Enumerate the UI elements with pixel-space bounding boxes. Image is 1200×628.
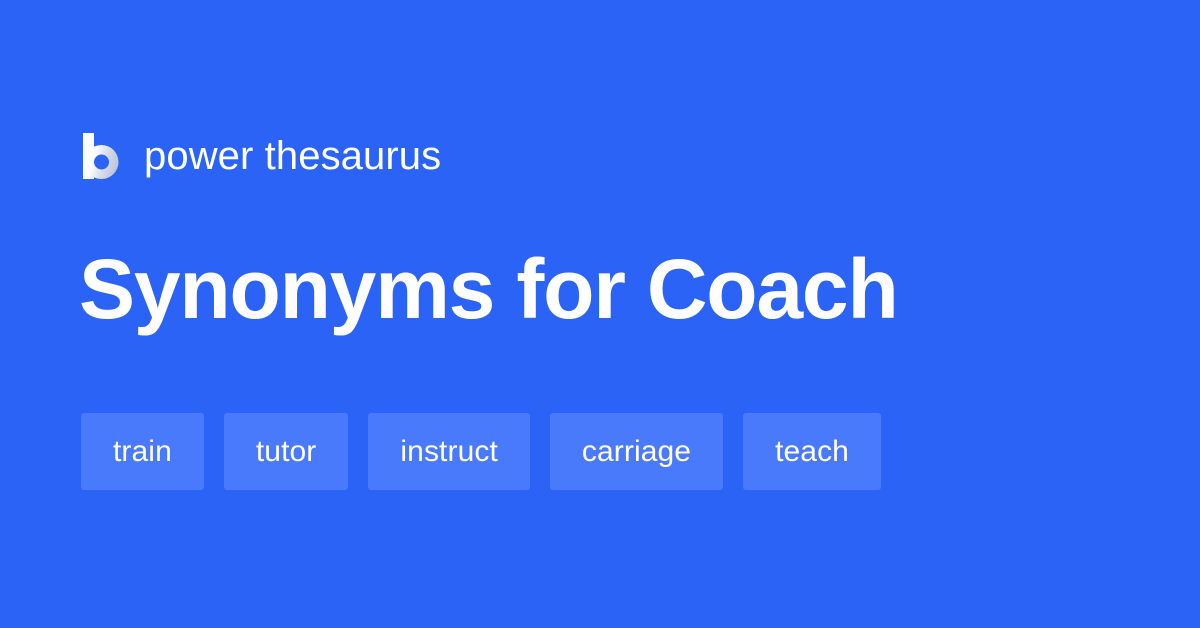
synonym-chip[interactable]: train [81, 413, 204, 490]
brand-lockup[interactable]: power thesaurus [80, 128, 441, 184]
brand-name: power thesaurus [144, 136, 441, 176]
page-title: Synonyms for Coach [79, 244, 898, 335]
synonym-chip-list: train tutor instruct carriage teach [81, 413, 881, 490]
power-thesaurus-b-logo-icon [80, 131, 124, 181]
synonym-chip[interactable]: instruct [368, 413, 530, 490]
synonym-chip[interactable]: carriage [550, 413, 723, 490]
synonym-chip[interactable]: teach [743, 413, 881, 490]
open-graph-card: power thesaurus Synonyms for Coach train… [0, 0, 1200, 628]
synonym-chip[interactable]: tutor [224, 413, 349, 490]
